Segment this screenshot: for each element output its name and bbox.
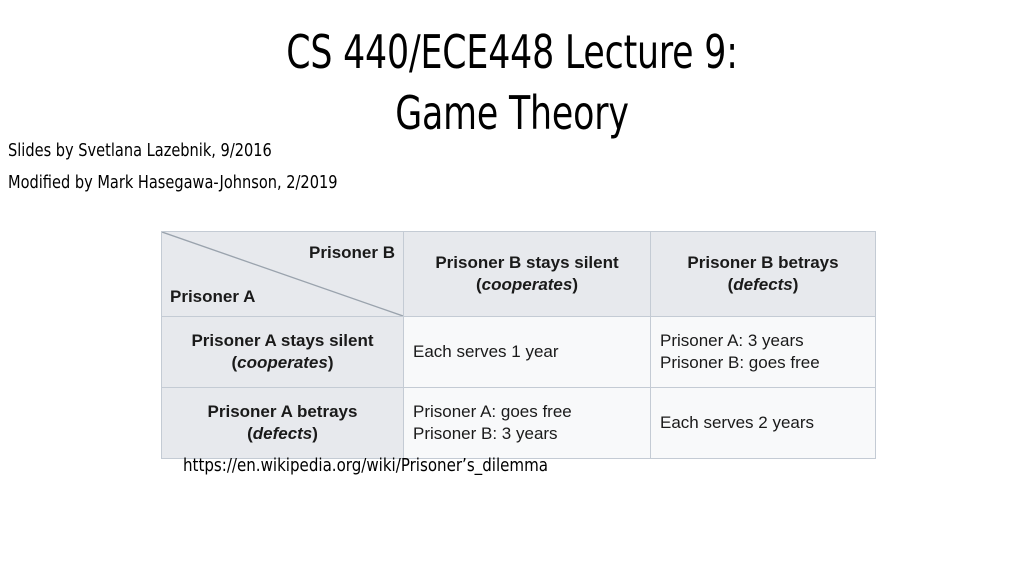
row-header-paren-text: (defects) (171, 423, 394, 445)
byline-modifier: Modified by Mark Hasegawa-Johnson, 2/201… (8, 172, 338, 193)
table-header-row: Prisoner B Prisoner A Prisoner B stays s… (162, 232, 876, 317)
corner-column-axis-label: Prisoner B (309, 243, 395, 263)
payoff-cell-cooperate-cooperate: Each serves 1 year (404, 317, 651, 388)
payoff-line: Prisoner A: goes free (413, 401, 641, 423)
payoff-line: Each serves 1 year (413, 341, 641, 363)
prisoners-dilemma-payoff-table: Prisoner B Prisoner A Prisoner B stays s… (161, 231, 876, 459)
table-row: Prisoner A stays silent (cooperates) Eac… (162, 317, 876, 388)
column-header-defects: Prisoner B betrays (defects) (651, 232, 876, 317)
column-header-paren-text: (cooperates) (413, 274, 641, 296)
row-header-main-text: Prisoner A betrays (208, 402, 358, 421)
row-header-cooperates: Prisoner A stays silent (cooperates) (162, 317, 404, 388)
source-url-caption: https://en.wikipedia.org/wiki/Prisoner’s… (183, 455, 548, 476)
payoff-cell-cooperate-defect: Prisoner A: 3 years Prisoner B: goes fre… (651, 317, 876, 388)
payoff-line: Prisoner B: goes free (660, 352, 866, 374)
payoff-cell-defect-defect: Each serves 2 years (651, 388, 876, 459)
column-header-cooperates: Prisoner B stays silent (cooperates) (404, 232, 651, 317)
row-header-main-text: Prisoner A stays silent (191, 331, 373, 350)
column-header-paren-text: (defects) (660, 274, 866, 296)
row-header-paren-text: (cooperates) (171, 352, 394, 374)
payoff-line: Prisoner A: 3 years (660, 330, 866, 352)
payoff-line: Each serves 2 years (660, 412, 866, 434)
page-title: CS 440/ECE448 Lecture 9: Game Theory (82, 22, 942, 143)
column-header-main-text: Prisoner B stays silent (435, 253, 618, 272)
row-header-defects: Prisoner A betrays (defects) (162, 388, 404, 459)
payoff-cell-defect-cooperate: Prisoner A: goes free Prisoner B: 3 year… (404, 388, 651, 459)
table-corner-cell: Prisoner B Prisoner A (162, 232, 404, 317)
column-header-main-text: Prisoner B betrays (687, 253, 838, 272)
table-row: Prisoner A betrays (defects) Prisoner A:… (162, 388, 876, 459)
payoff-line: Prisoner B: 3 years (413, 423, 641, 445)
corner-row-axis-label: Prisoner A (170, 287, 255, 307)
byline-author: Slides by Svetlana Lazebnik, 9/2016 (8, 140, 272, 161)
